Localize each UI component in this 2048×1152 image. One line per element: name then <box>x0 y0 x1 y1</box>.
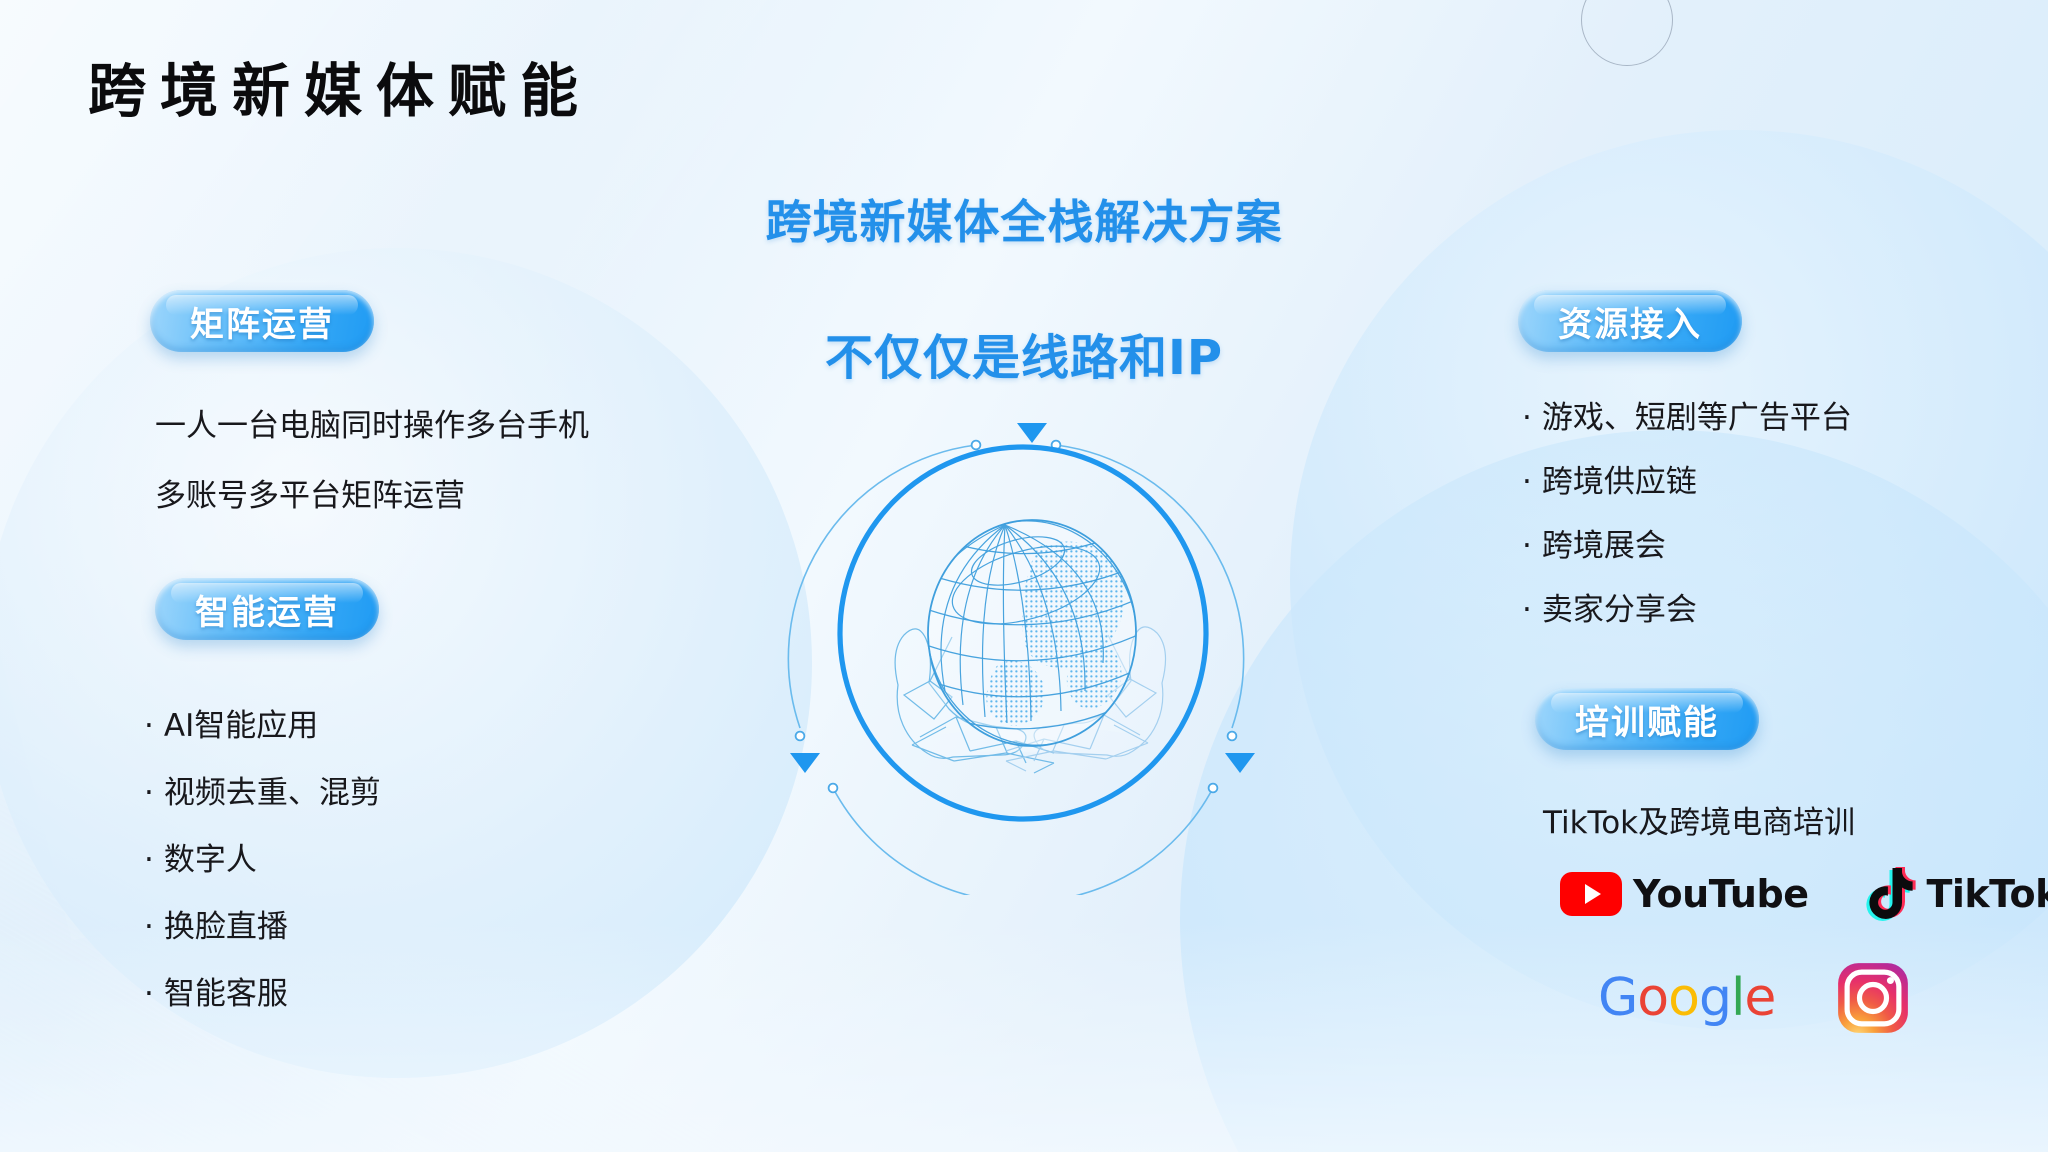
center-headline-primary: 跨境新媒体全栈解决方案 <box>0 186 2048 252</box>
pill-label: 培训赋能 <box>1575 695 1719 744</box>
left-bullet-1-2: ·数字人 <box>144 834 257 879</box>
google-letter-4: l <box>1731 968 1744 1028</box>
right-bullet-0-3: ·卖家分享会 <box>1522 584 1697 629</box>
google-letter-1: o <box>1637 968 1668 1028</box>
bullet-dot-icon: · <box>144 842 154 878</box>
tiktok-note-icon <box>1866 866 1916 922</box>
bullet-text: 跨境展会 <box>1542 528 1666 564</box>
tiktok-logo[interactable]: TikTok <box>1866 866 2048 922</box>
bullet-text: 视频去重、混剪 <box>164 775 381 811</box>
google-letter-5: e <box>1744 968 1775 1028</box>
right-bullet-0-0: ·游戏、短剧等广告平台 <box>1522 392 1852 437</box>
bullet-dot-icon: · <box>144 976 154 1012</box>
pill-matrix-operations[interactable]: 矩阵运营 <box>150 290 374 352</box>
bullet-dot-icon: · <box>1522 592 1532 628</box>
slide-canvas: 跨境新媒体赋能 跨境新媒体全栈解决方案 不仅仅是线路和IP 矩阵运营 一人一台电… <box>0 0 2048 1152</box>
bullet-text: AI智能应用 <box>164 708 318 744</box>
tiktok-wordmark: TikTok <box>1926 872 2048 916</box>
left-bullet-1-3: ·换脸直播 <box>144 901 288 946</box>
pill-smart-operations[interactable]: 智能运营 <box>155 578 379 640</box>
pill-resource-access[interactable]: 资源接入 <box>1518 290 1742 352</box>
bullet-text: 数字人 <box>164 842 257 878</box>
bullet-text: 游戏、短剧等广告平台 <box>1542 400 1852 436</box>
pill-training-empowerment[interactable]: 培训赋能 <box>1535 688 1759 750</box>
instagram-logo[interactable] <box>1837 962 1909 1034</box>
bullet-text: 换脸直播 <box>164 909 288 945</box>
bullet-dot-icon: · <box>144 909 154 945</box>
bullet-text: 卖家分享会 <box>1542 592 1697 628</box>
bullet-dot-icon: · <box>1522 528 1532 564</box>
bullet-dot-icon: · <box>144 708 154 744</box>
decorative-ring-icon <box>1581 0 1673 66</box>
pill-label: 资源接入 <box>1558 297 1702 346</box>
youtube-play-icon <box>1560 872 1622 916</box>
logo-row-bottom: Google <box>1598 962 1909 1034</box>
bullet-dot-icon: · <box>1522 400 1532 436</box>
right-line-1-0: TikTok及跨境电商培训 <box>1543 797 1855 842</box>
logo-row-top: YouTube TikTok <box>1560 866 2048 922</box>
background-bottom-fade <box>0 922 2048 1152</box>
google-letter-3: g <box>1699 968 1731 1028</box>
left-line-0-1: 多账号多平台矩阵运营 <box>155 470 465 515</box>
youtube-logo[interactable]: YouTube <box>1560 872 1808 916</box>
google-logo[interactable]: Google <box>1598 968 1775 1028</box>
youtube-wordmark: YouTube <box>1633 872 1808 916</box>
bullet-text: 智能客服 <box>164 976 288 1012</box>
right-bullet-0-1: ·跨境供应链 <box>1522 456 1697 501</box>
google-letter-0: G <box>1598 968 1637 1028</box>
left-bullet-1-1: ·视频去重、混剪 <box>144 767 381 812</box>
page-title: 跨境新媒体赋能 <box>88 44 592 128</box>
pill-label: 智能运营 <box>195 585 339 634</box>
globe-in-hands-illustration <box>770 395 1290 895</box>
left-bullet-1-0: ·AI智能应用 <box>144 700 318 745</box>
left-bullet-1-4: ·智能客服 <box>144 968 288 1013</box>
bullet-dot-icon: · <box>1522 464 1532 500</box>
left-line-0-0: 一人一台电脑同时操作多台手机 <box>155 400 589 445</box>
bullet-dot-icon: · <box>144 775 154 811</box>
pill-label: 矩阵运营 <box>190 297 334 346</box>
bullet-text: 跨境供应链 <box>1542 464 1697 500</box>
right-bullet-0-2: ·跨境展会 <box>1522 520 1666 565</box>
google-letter-2: o <box>1668 968 1699 1028</box>
